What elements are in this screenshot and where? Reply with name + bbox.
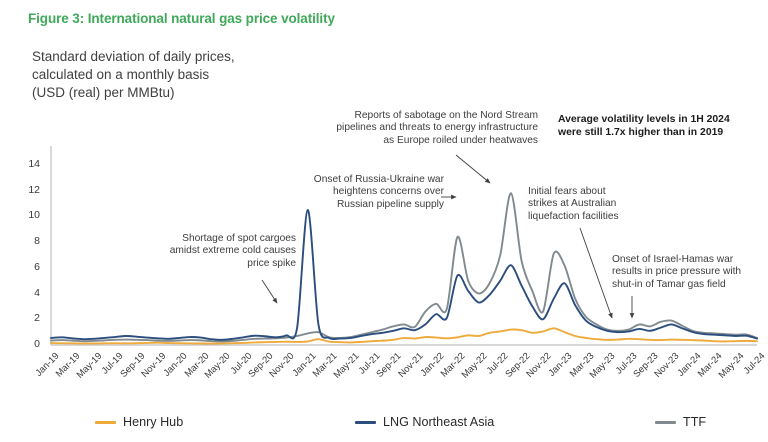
chart-legend: Henry HubLNG Northeast AsiaTTF [0,409,768,435]
legend-label: TTF [683,415,706,429]
legend-item-lng-northeast-asia[interactable]: LNG Northeast Asia [355,415,494,429]
y-tick-2: 2 [14,312,40,324]
y-tick-14: 14 [14,158,40,170]
annot-australian-strikes-leader [580,228,612,318]
legend-swatch-lng-northeast-asia [355,421,376,424]
legend-item-henry-hub[interactable]: Henry Hub [95,415,183,429]
y-tick-10: 10 [14,209,40,221]
y-tick-12: 12 [14,184,40,196]
legend-swatch-henry-hub [95,421,116,424]
annot-cold-spike-leader [262,280,277,303]
series-line-ttf [51,193,757,341]
legend-label: Henry Hub [123,415,183,429]
legend-item-ttf[interactable]: TTF [655,415,706,429]
annot-nord-stream-sabotage-leader [456,155,490,183]
legend-label: LNG Northeast Asia [383,415,494,429]
legend-swatch-ttf [655,421,676,424]
y-tick-6: 6 [14,261,40,273]
y-tick-4: 4 [14,287,40,299]
y-tick-0: 0 [14,338,40,350]
series-line-lng-northeast-asia [51,210,757,340]
y-tick-8: 8 [14,235,40,247]
